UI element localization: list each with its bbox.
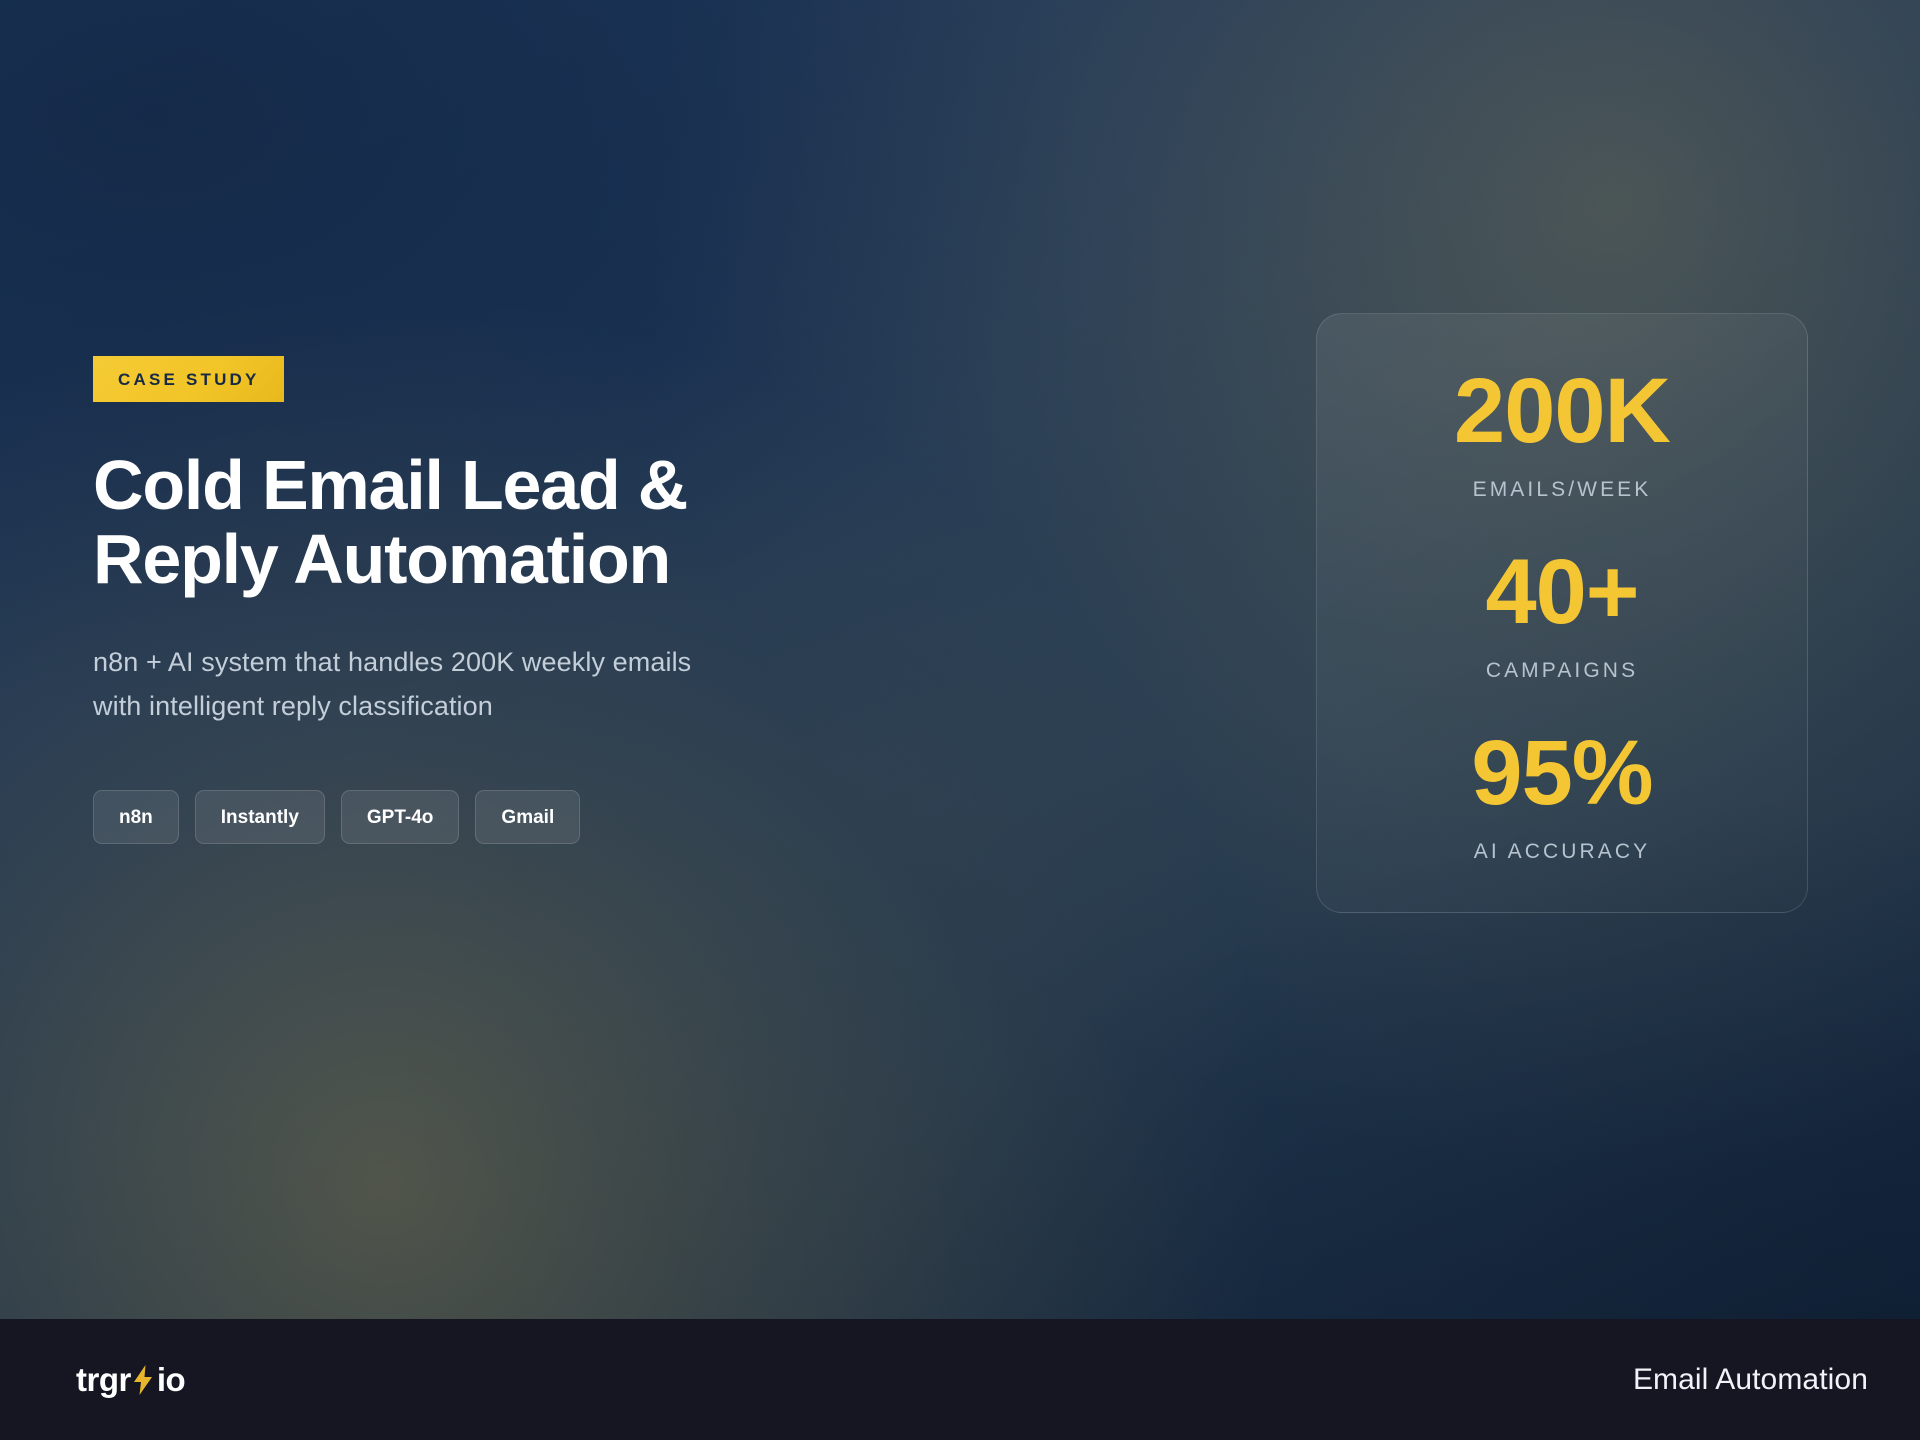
hero-content: CASE STUDY Cold Email Lead & Reply Autom… <box>93 356 853 844</box>
tech-tag-list: n8n Instantly GPT-4o Gmail <box>93 790 853 844</box>
footer-bar: trgr io Email Automation <box>0 1319 1920 1440</box>
page-title-line-1: Cold Email Lead & <box>93 448 853 522</box>
stat-emails-per-week: 200K EMAILS/WEEK <box>1317 365 1807 500</box>
brand-logo-suffix: io <box>157 1361 185 1399</box>
footer-category-label: Email Automation <box>1633 1363 1868 1397</box>
page-description: n8n + AI system that handles 200K weekly… <box>93 640 693 728</box>
tech-tag-gmail[interactable]: Gmail <box>475 790 580 844</box>
stat-label: CAMPAIGNS <box>1486 660 1638 681</box>
brand-logo[interactable]: trgr io <box>76 1361 185 1399</box>
stat-value: 40+ <box>1485 546 1638 638</box>
case-study-badge: CASE STUDY <box>93 356 284 402</box>
lightning-bolt-icon <box>132 1365 154 1395</box>
stat-label: AI ACCURACY <box>1474 841 1650 862</box>
stat-ai-accuracy: 95% AI ACCURACY <box>1317 727 1807 862</box>
stat-label: EMAILS/WEEK <box>1473 479 1652 500</box>
stat-value: 95% <box>1471 727 1652 819</box>
tech-tag-n8n[interactable]: n8n <box>93 790 179 844</box>
tech-tag-instantly[interactable]: Instantly <box>195 790 325 844</box>
stats-card: 200K EMAILS/WEEK 40+ CAMPAIGNS 95% AI AC… <box>1316 313 1808 913</box>
case-study-slide: CASE STUDY Cold Email Lead & Reply Autom… <box>0 0 1920 1440</box>
stat-value: 200K <box>1454 365 1670 457</box>
page-title-line-2: Reply Automation <box>93 522 853 596</box>
tech-tag-gpt-4o[interactable]: GPT-4o <box>341 790 460 844</box>
stat-campaigns: 40+ CAMPAIGNS <box>1317 546 1807 681</box>
page-title: Cold Email Lead & Reply Automation <box>93 448 853 596</box>
brand-logo-prefix: trgr <box>76 1361 131 1399</box>
